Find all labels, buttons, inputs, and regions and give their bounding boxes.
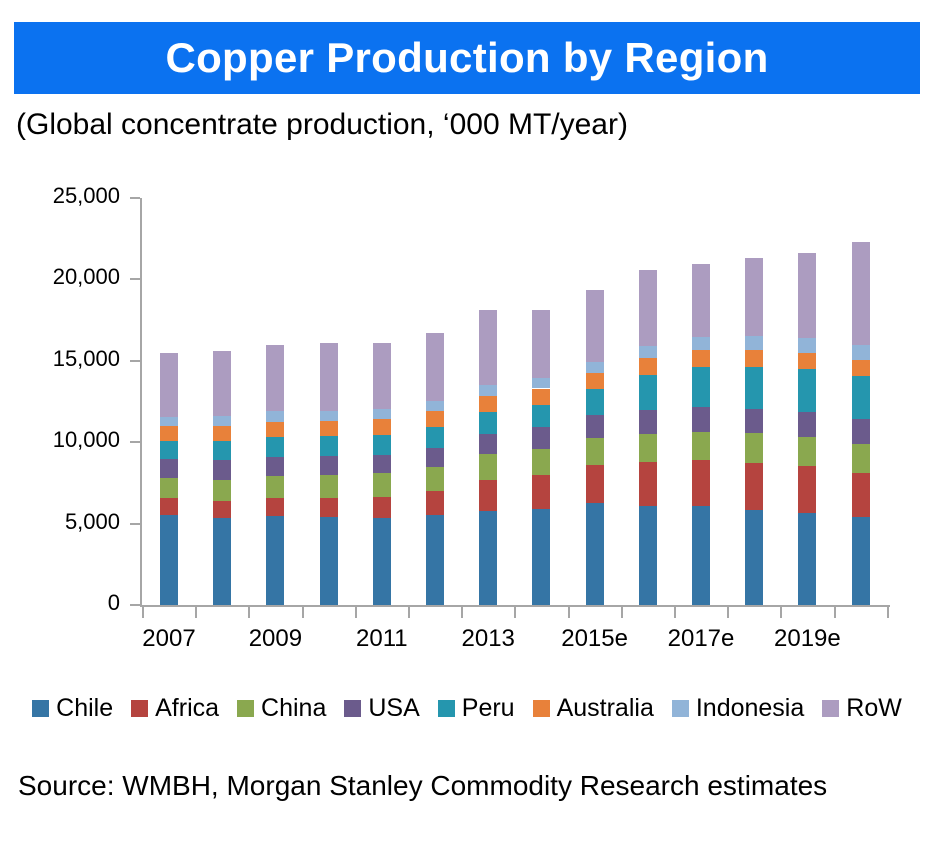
legend-swatch-icon [822, 700, 839, 717]
x-axis-tick [621, 607, 623, 618]
x-axis-label: 2013 [461, 625, 514, 653]
bar-segment-indonesia [852, 345, 870, 360]
legend-item[interactable]: Australia [533, 694, 654, 723]
bar-segment-indonesia [266, 411, 284, 422]
legend-swatch-icon [438, 700, 455, 717]
bar-segment-africa [320, 498, 338, 518]
bar-segment-china [213, 480, 231, 501]
bar-segment-china [320, 475, 338, 498]
bar-segment-australia [213, 426, 231, 440]
bar-segment-china [373, 473, 391, 497]
bar-segment-peru [745, 367, 763, 409]
bar-segment-peru [266, 437, 284, 457]
bar-segment-china [852, 444, 870, 473]
bar-segment-usa [852, 419, 870, 443]
bar-segment-china [586, 438, 604, 465]
bar-segment-australia [745, 350, 763, 366]
x-axis-tick [408, 607, 410, 618]
x-axis-label: 2019e [774, 625, 841, 653]
bar-segment-peru [639, 375, 657, 411]
bar-segment-row [160, 353, 178, 416]
bar-segment-row [852, 242, 870, 345]
stacked-bar [745, 198, 763, 605]
x-axis-tick [568, 607, 570, 618]
legend-label: Australia [557, 694, 654, 723]
bar-segment-australia [639, 358, 657, 374]
legend-item[interactable]: Chile [32, 694, 113, 723]
x-axis-tick [355, 607, 357, 618]
bar-segment-china [639, 434, 657, 462]
bar-segment-africa [745, 463, 763, 510]
bar-segment-australia [586, 373, 604, 389]
bar-segment-usa [745, 409, 763, 433]
legend-label: China [261, 694, 326, 723]
x-axis-tick [142, 607, 144, 618]
stacked-bar [266, 198, 284, 605]
bar-segment-row [373, 343, 391, 409]
legend-item[interactable]: Indonesia [672, 694, 804, 723]
bar-segment-africa [426, 491, 444, 515]
legend-swatch-icon [237, 700, 254, 717]
legend-label: Africa [155, 694, 219, 723]
bar-segment-australia [160, 426, 178, 440]
x-axis-label: 2017e [668, 625, 735, 653]
bar-segment-usa [426, 448, 444, 467]
chart-legend: ChileAfricaChinaUSAPeruAustraliaIndonesi… [0, 694, 934, 723]
legend-label: Chile [56, 694, 113, 723]
bar-segment-china [532, 449, 550, 475]
x-axis-tick [834, 607, 836, 618]
stacked-bar [426, 198, 444, 605]
x-axis-tick [887, 607, 889, 618]
bar-segment-australia [692, 350, 710, 366]
stacked-bar [320, 198, 338, 605]
bar-segment-chile [160, 515, 178, 605]
stacked-bar [213, 198, 231, 605]
bar-segment-row [692, 264, 710, 337]
bar-segment-usa [532, 427, 550, 449]
bars-layer [0, 175, 934, 605]
bar-segment-chile [798, 513, 816, 605]
legend-swatch-icon [131, 700, 148, 717]
stacked-bar [692, 198, 710, 605]
bar-segment-australia [532, 389, 550, 405]
bar-segment-chile [320, 517, 338, 605]
bar-segment-usa [213, 460, 231, 480]
bar-segment-row [639, 270, 657, 347]
x-axis-tick [727, 607, 729, 618]
bar-segment-usa [160, 459, 178, 478]
bar-segment-usa [320, 456, 338, 475]
chart-subtitle: (Global concentrate production, ‘000 MT/… [16, 108, 628, 142]
bar-segment-indonesia [373, 409, 391, 419]
x-axis-label: 2009 [249, 625, 302, 653]
bar-segment-peru [373, 435, 391, 455]
bar-segment-chile [373, 518, 391, 605]
bar-segment-indonesia [692, 337, 710, 350]
bar-segment-indonesia [586, 362, 604, 373]
bar-segment-chile [639, 506, 657, 605]
bar-segment-indonesia [213, 416, 231, 426]
x-axis-tick [248, 607, 250, 618]
legend-item[interactable]: Peru [438, 694, 515, 723]
bar-segment-peru [160, 441, 178, 460]
bar-segment-usa [798, 412, 816, 436]
slide-canvas: Copper Production by Region (Global conc… [0, 0, 934, 848]
bar-segment-peru [852, 376, 870, 419]
bar-segment-peru [426, 427, 444, 448]
legend-label: USA [368, 694, 419, 723]
bar-segment-usa [639, 410, 657, 434]
bar-segment-chile [692, 506, 710, 605]
bar-segment-chile [532, 509, 550, 605]
bar-segment-africa [213, 501, 231, 518]
bar-segment-row [798, 253, 816, 338]
x-axis-tick [195, 607, 197, 618]
x-axis-label: 2011 [356, 625, 408, 653]
bar-segment-peru [532, 405, 550, 427]
bar-segment-africa [798, 466, 816, 513]
legend-swatch-icon [344, 700, 361, 717]
bar-segment-africa [479, 480, 497, 511]
bar-segment-peru [320, 436, 338, 456]
bar-segment-row [320, 343, 338, 411]
bar-segment-australia [320, 421, 338, 436]
legend-item[interactable]: China [237, 694, 326, 723]
bar-segment-row [426, 333, 444, 401]
bar-segment-indonesia [320, 411, 338, 421]
source-note: Source: WMBH, Morgan Stanley Commodity R… [18, 770, 878, 801]
bar-segment-indonesia [798, 338, 816, 353]
bar-segment-australia [426, 411, 444, 426]
bar-segment-usa [692, 407, 710, 431]
bar-segment-peru [213, 441, 231, 461]
bar-segment-australia [479, 396, 497, 412]
bar-segment-usa [373, 455, 391, 473]
bar-segment-row [586, 290, 604, 362]
title-banner: Copper Production by Region [14, 22, 920, 94]
bar-segment-peru [479, 412, 497, 434]
legend-label: Peru [462, 694, 515, 723]
stacked-bar [532, 198, 550, 605]
bar-segment-africa [160, 498, 178, 514]
bar-segment-china [479, 454, 497, 479]
bar-segment-china [160, 478, 178, 498]
bar-segment-usa [586, 415, 604, 438]
bar-segment-chile [213, 518, 231, 605]
x-axis-label: 2007 [142, 625, 195, 653]
stacked-bar [479, 198, 497, 605]
bar-segment-chile [266, 516, 284, 605]
bar-segment-usa [479, 434, 497, 454]
stacked-bar [586, 198, 604, 605]
bar-segment-china [426, 467, 444, 491]
bar-segment-china [692, 432, 710, 460]
bar-segment-australia [852, 360, 870, 376]
legend-swatch-icon [533, 700, 550, 717]
bar-segment-row [213, 351, 231, 416]
bar-segment-peru [798, 369, 816, 412]
legend-label: RoW [846, 694, 902, 723]
bar-segment-china [798, 437, 816, 466]
bar-segment-row [532, 310, 550, 378]
legend-item[interactable]: Africa [131, 694, 219, 723]
stacked-bar [160, 198, 178, 605]
legend-item[interactable]: RoW [822, 694, 902, 723]
bar-segment-indonesia [745, 336, 763, 350]
bar-segment-row [479, 310, 497, 385]
bar-segment-africa [373, 497, 391, 518]
bar-segment-australia [798, 353, 816, 369]
bar-segment-peru [692, 367, 710, 408]
bar-segment-usa [266, 457, 284, 477]
bar-segment-china [266, 476, 284, 498]
x-axis-tick [514, 607, 516, 618]
bar-segment-africa [852, 473, 870, 517]
page-title: Copper Production by Region [165, 34, 768, 82]
stacked-bar [373, 198, 391, 605]
bar-segment-africa [532, 475, 550, 509]
bar-segment-indonesia [639, 346, 657, 358]
legend-swatch-icon [32, 700, 49, 717]
bar-segment-row [266, 345, 284, 412]
legend-swatch-icon [672, 700, 689, 717]
chart-plot-area: 05,00010,00015,00020,00025,000 200720092… [0, 175, 934, 675]
bar-segment-peru [586, 389, 604, 415]
bar-segment-africa [639, 462, 657, 506]
bar-segment-indonesia [426, 401, 444, 411]
bar-segment-chile [426, 515, 444, 605]
stacked-bar [639, 198, 657, 605]
bar-segment-indonesia [532, 378, 550, 389]
x-axis-tick [674, 607, 676, 618]
bar-segment-africa [266, 498, 284, 516]
bar-segment-chile [852, 517, 870, 605]
legend-label: Indonesia [696, 694, 804, 723]
bar-segment-indonesia [479, 385, 497, 396]
stacked-bar [798, 198, 816, 605]
x-axis-label: 2015e [561, 625, 628, 653]
x-axis-tick [461, 607, 463, 618]
bar-segment-australia [373, 419, 391, 434]
bar-segment-china [745, 433, 763, 462]
legend-item[interactable]: USA [344, 694, 419, 723]
bar-segment-australia [266, 422, 284, 437]
stacked-bar [852, 198, 870, 605]
bar-segment-chile [745, 510, 763, 605]
x-axis-tick [302, 607, 304, 618]
x-axis-tick [780, 607, 782, 618]
bar-segment-chile [586, 503, 604, 605]
bar-segment-indonesia [160, 417, 178, 427]
bar-segment-row [745, 258, 763, 336]
bar-segment-chile [479, 511, 497, 605]
bar-segment-africa [586, 465, 604, 503]
bar-segment-africa [692, 460, 710, 506]
